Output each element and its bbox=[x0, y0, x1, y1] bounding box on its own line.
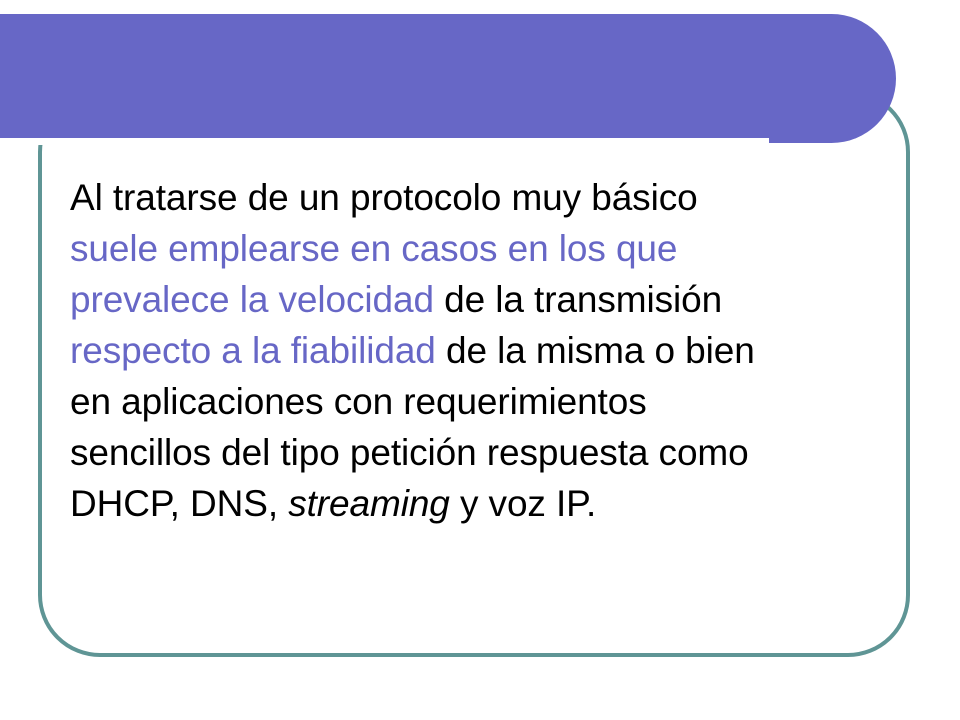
body-text-highlight-run: prevalece la velocidad bbox=[70, 279, 434, 320]
body-text-line: suele emplearse en casos en los que bbox=[70, 223, 890, 274]
body-text-italic-run: streaming bbox=[288, 483, 450, 524]
body-text-line: prevalece la velocidad de la transmisión bbox=[70, 274, 890, 325]
body-text-run: de la misma o bien bbox=[436, 330, 755, 371]
body-text-run: y voz IP. bbox=[450, 483, 596, 524]
body-text-line: sencillos del tipo petición respuesta co… bbox=[70, 427, 890, 478]
title-banner bbox=[0, 14, 896, 143]
body-text-line: respecto a la fiabilidad de la misma o b… bbox=[70, 325, 890, 376]
body-text-block: Al tratarse de un protocolo muy básicosu… bbox=[70, 172, 890, 529]
body-text-run: Al tratarse de un protocolo muy básico bbox=[70, 177, 698, 218]
body-text-run: sencillos del tipo petición respuesta co… bbox=[70, 432, 749, 473]
body-text-highlight-run: suele emplearse en casos en los que bbox=[70, 228, 677, 269]
body-text-line: Al tratarse de un protocolo muy básico bbox=[70, 172, 890, 223]
title-underline-rule bbox=[0, 138, 769, 145]
body-text-run: DHCP, DNS, bbox=[70, 483, 288, 524]
body-text-run: de la transmisión bbox=[434, 279, 722, 320]
body-text-line: DHCP, DNS, streaming y voz IP. bbox=[70, 478, 890, 529]
body-text-run: en aplicaciones con requerimientos bbox=[70, 381, 647, 422]
presentation-slide: Al tratarse de un protocolo muy básicosu… bbox=[0, 0, 960, 720]
body-text-highlight-run: respecto a la fiabilidad bbox=[70, 330, 436, 371]
body-text-line: en aplicaciones con requerimientos bbox=[70, 376, 890, 427]
